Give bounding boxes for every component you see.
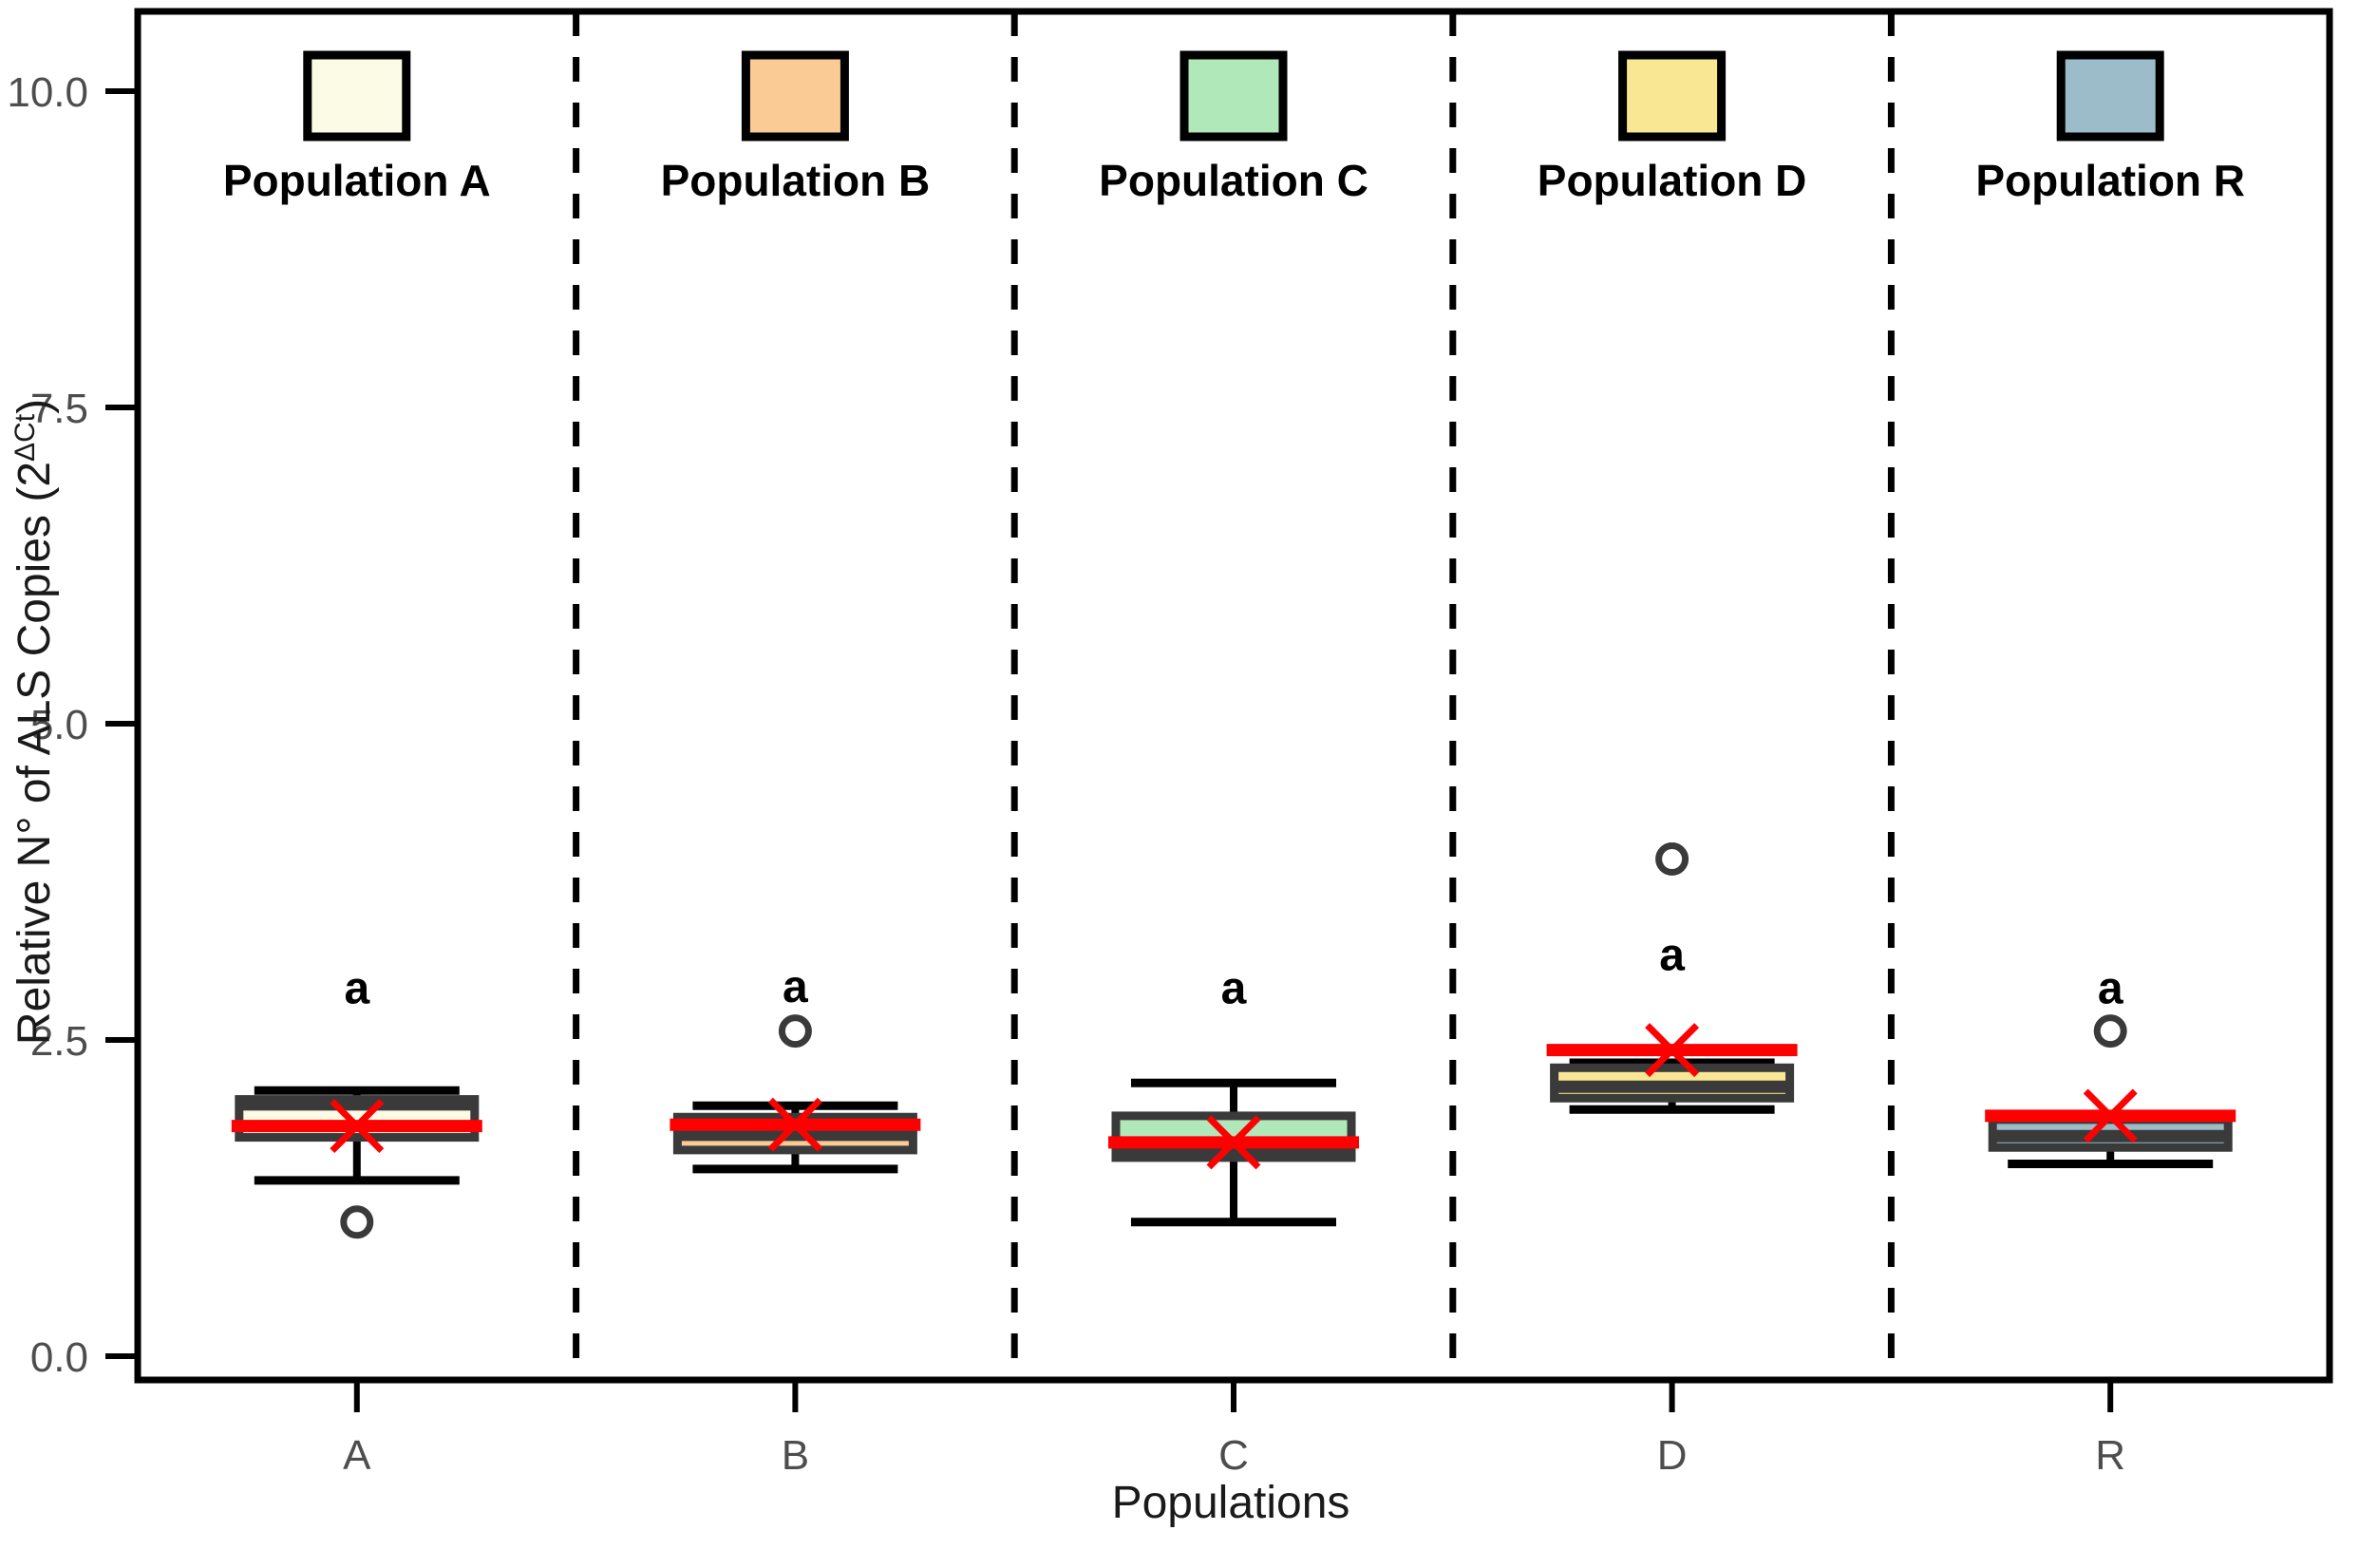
boxplot-figure: 0.02.55.07.510.0 ABCDR Population APopul…	[0, 0, 2359, 1568]
boxplot-group-C	[1108, 1083, 1359, 1222]
x-tick-label: B	[782, 1432, 809, 1479]
legend-label: Population D	[1538, 156, 1807, 205]
svg-text:Relative N° of ALS Copies (2ΔC: Relative N° of ALS Copies (2ΔCt)	[9, 399, 60, 1045]
x-axis-tick-labels: ABCDR	[343, 1432, 2125, 1479]
legend-label: Population C	[1099, 156, 1368, 205]
boxplot-group-A	[232, 1090, 482, 1236]
outlier-point	[344, 1209, 370, 1236]
outlier-point	[2097, 1018, 2123, 1045]
legend-label: Population A	[223, 156, 491, 205]
significance-letter: a	[1221, 963, 1247, 1013]
x-tick-label: R	[2095, 1432, 2125, 1479]
legend-label: Population R	[1975, 156, 2245, 205]
significance-letter: a	[2098, 963, 2123, 1013]
y-tick-label: 0.0	[30, 1334, 88, 1381]
significance-letter: a	[1659, 931, 1685, 981]
legend-swatch	[745, 55, 844, 137]
y-axis-title-main: Relative N° of ALS Copies (2	[9, 462, 60, 1045]
legend-swatch	[308, 55, 406, 137]
figure-canvas: 0.02.55.07.510.0 ABCDR Population APopul…	[0, 0, 2359, 1568]
outlier-point	[782, 1018, 808, 1045]
significance-letter: a	[344, 963, 369, 1013]
legend-swatch	[1184, 55, 1283, 137]
y-tick-label: 10.0	[7, 69, 88, 116]
y-axis-ticks	[105, 91, 138, 1356]
x-tick-label: C	[1218, 1432, 1249, 1479]
boxplot-series	[232, 846, 2236, 1236]
outlier-point	[1659, 846, 1686, 873]
legend: Population APopulation BPopulation CPopu…	[223, 55, 2245, 205]
x-tick-label: A	[343, 1432, 371, 1479]
boxplot-group-R	[1985, 1018, 2236, 1164]
x-axis-title: Populations	[1112, 1478, 1350, 1528]
y-axis-title: Relative N° of ALS Copies (2ΔCt)	[9, 399, 60, 1045]
significance-letters: aaaaa	[344, 931, 2123, 1014]
y-axis-title-end: )	[9, 399, 60, 414]
significance-letter: a	[783, 962, 808, 1012]
x-axis-ticks	[357, 1380, 2110, 1412]
x-tick-label: D	[1657, 1432, 1688, 1479]
boxplot-group-B	[670, 1018, 920, 1169]
legend-swatch	[2061, 55, 2160, 137]
legend-swatch	[1623, 55, 1722, 137]
y-axis-title-superscript: ΔCt	[9, 413, 41, 462]
legend-label: Population B	[661, 156, 931, 205]
